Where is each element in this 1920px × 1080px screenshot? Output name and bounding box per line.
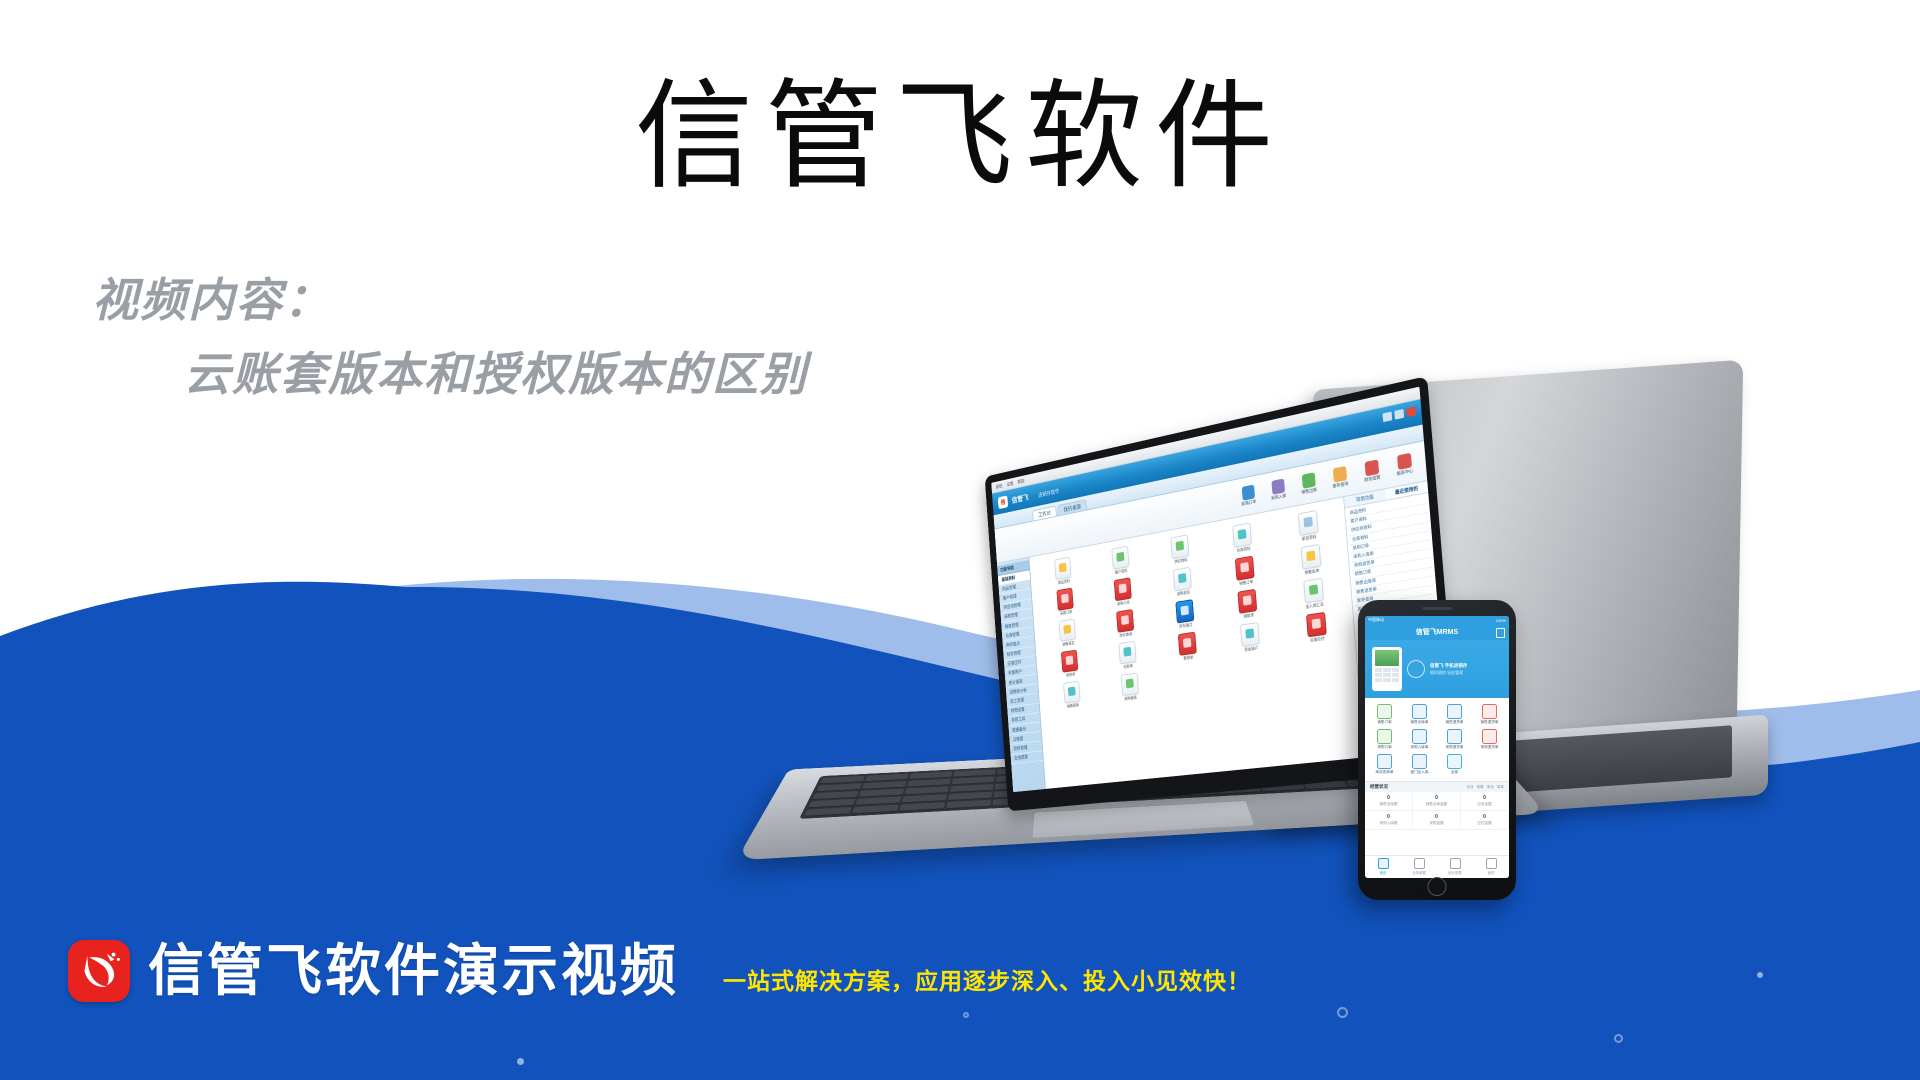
phone-bottom-nav: 首页 业务单据 统计报表 我的: [1365, 855, 1509, 878]
module-icon: [1178, 632, 1197, 656]
feature-label: 盘门出入库: [1403, 770, 1436, 775]
feature-icon: [1377, 754, 1392, 769]
feature-tile[interactable]: 销售订单: [1368, 704, 1401, 725]
feature-label: 销售订单: [1368, 720, 1401, 725]
nav-item-home[interactable]: 首页: [1365, 858, 1401, 875]
feature-icon: [1412, 754, 1427, 769]
stat-value: 0: [1461, 814, 1508, 820]
module-icon: [1059, 619, 1076, 642]
module-icon: [1120, 673, 1138, 696]
page-title: 信管飞软件: [0, 72, 1920, 204]
video-content-topic: 云账套版本和授权版本的区别: [184, 346, 808, 404]
hero-image: [1375, 650, 1399, 666]
feature-label: 采购退货单: [1473, 745, 1506, 750]
hero-subtitle: 随时随地 轻松管理: [1430, 670, 1502, 676]
feature-tile[interactable]: 销售退货单: [1438, 704, 1471, 725]
nav-label: 统计报表: [1437, 870, 1473, 875]
toolbar-label: 采购入库: [1268, 492, 1290, 502]
hero-title: 信管飞 手机进销存: [1430, 663, 1502, 669]
stat-cell: 0 销售出库额: [1365, 792, 1413, 811]
phone-screen: 中国移动 100% 信管飞MRMS 信管飞: [1365, 616, 1509, 878]
module-tile[interactable]: 采购报表: [1100, 670, 1160, 708]
home-icon: [1378, 858, 1389, 869]
stat-label: 采购金额: [1413, 821, 1460, 826]
module-icon: [1298, 510, 1319, 536]
period-chip[interactable]: 本年: [1497, 785, 1504, 790]
menu-item[interactable]: 帮助: [1017, 478, 1024, 485]
stat-value: 0: [1365, 795, 1412, 801]
feature-icon: [1447, 754, 1462, 769]
module-icon: [1113, 577, 1131, 601]
toolbar-label: 财务结算: [1360, 474, 1384, 484]
toolbar-button[interactable]: 库存查询: [1328, 465, 1352, 490]
stat-value: 0: [1461, 795, 1508, 801]
period-chip[interactable]: 本周: [1476, 785, 1483, 790]
status-text: 操作员：admin: [1051, 792, 1073, 793]
stat-label: 应收金额: [1461, 802, 1508, 807]
decor-dot: [1337, 1007, 1348, 1018]
menu-item[interactable]: 设置: [1006, 480, 1013, 487]
toolbar-label: 销售出库: [1298, 486, 1321, 496]
toolbar-icon: [1271, 479, 1285, 495]
toolbar-button[interactable]: 财务结算: [1359, 458, 1384, 484]
feature-label: 采购退货单: [1438, 745, 1471, 750]
minimize-icon[interactable]: [1383, 412, 1393, 423]
toolbar-icon: [1301, 472, 1315, 489]
module-icon: [1118, 641, 1136, 665]
smartphone: 中国移动 100% 信管飞MRMS 信管飞: [1358, 600, 1516, 900]
module-icon: [1063, 681, 1080, 704]
stat-cell: 0 应付金额: [1461, 811, 1509, 830]
feature-tile[interactable]: 销售出库单: [1403, 704, 1436, 725]
hamburger-menu-icon[interactable]: [1496, 628, 1505, 638]
nav-label: 首页: [1365, 870, 1401, 875]
feature-tile[interactable]: 采购入库单: [1403, 729, 1436, 750]
xinguanfei-bird-logo-icon: [68, 940, 130, 1002]
feature-label: 采购订单: [1368, 745, 1401, 750]
person-icon: [1486, 858, 1497, 869]
period-chip[interactable]: 本月: [1487, 785, 1494, 790]
period-filter: 今日 本周 本月 本年: [1466, 785, 1504, 790]
phone-hero-banner: 信管飞 手机进销存 随时随地 轻松管理: [1365, 640, 1509, 698]
feature-tile[interactable]: 全部: [1438, 754, 1471, 775]
hero-circle-icon: [1407, 660, 1425, 678]
feature-label: 销售退货单: [1438, 720, 1471, 725]
stat-value: 0: [1413, 814, 1460, 820]
module-icon: [1111, 546, 1129, 570]
nav-item-reports[interactable]: 统计报表: [1437, 858, 1473, 875]
stat-label: 销售出库金额: [1413, 802, 1460, 807]
phone-section-header: 经营状况 今日 本周 本月 本年: [1365, 781, 1509, 792]
module-icon: [1061, 650, 1078, 673]
feature-label: 采购入库单: [1403, 745, 1436, 750]
module-icon: [1054, 557, 1071, 580]
stat-cell: 0 采购入库额: [1365, 811, 1413, 830]
nav-item-documents[interactable]: 业务单据: [1401, 858, 1437, 875]
phone-statusbar: 中国移动 100%: [1365, 616, 1509, 624]
feature-icon: [1482, 729, 1497, 744]
phone-app-title: 信管飞MRMS: [1416, 627, 1458, 637]
decor-dot: [963, 1012, 969, 1018]
feature-icon: [1412, 704, 1427, 719]
feature-label: 销售退货单: [1473, 720, 1506, 725]
toolbar-icon: [1241, 485, 1254, 501]
close-icon[interactable]: [1406, 406, 1416, 417]
toolbar-icon: [1397, 453, 1412, 470]
toolbar-label: 报表中心: [1393, 467, 1417, 477]
stat-label: 应付金额: [1461, 821, 1508, 826]
app-logo-icon: 信: [998, 495, 1008, 509]
module-icon: [1233, 522, 1253, 547]
bottom-banner: 信管飞软件演示视频 一站式解决方案，应用逐步深入、投入小见效快！: [68, 940, 1251, 1002]
module-icon: [1170, 534, 1189, 559]
module-icon: [1175, 599, 1194, 623]
feature-icon: [1377, 704, 1392, 719]
period-chip[interactable]: 今日: [1466, 785, 1473, 790]
feature-tile[interactable]: 采购退货单: [1438, 729, 1471, 750]
status-text: 版本：V9.0: [1078, 789, 1095, 792]
toolbar-button[interactable]: 采购入库: [1266, 478, 1289, 503]
feature-icon: [1447, 729, 1462, 744]
hero-keypad: [1375, 668, 1399, 682]
module-icon: [1240, 622, 1260, 647]
module-icon: [1238, 589, 1258, 614]
module-icon: [1173, 567, 1192, 592]
nav-label: 业务单据: [1401, 870, 1437, 875]
menu-item[interactable]: 系统: [995, 483, 1002, 490]
module-icon: [1057, 588, 1074, 611]
module-icon: [1235, 556, 1255, 581]
stat-value: 0: [1365, 814, 1412, 820]
hero-text: 信管飞 手机进销存 随时随地 轻松管理: [1430, 663, 1502, 676]
module-tile[interactable]: 费用单: [1157, 628, 1219, 667]
feature-label: 销售出库单: [1403, 720, 1436, 725]
banner-title: 信管飞软件演示视频: [148, 943, 679, 999]
hero-phone-illustration: [1372, 647, 1402, 691]
feature-tile[interactable]: 盘门出入库: [1403, 754, 1436, 775]
phone-stats-grid: 0 销售出库额 0 销售出库金额 0 应收金额 0 采购入库额: [1365, 792, 1509, 830]
slide-canvas: 信管飞软件 视频内容： 云账套版本和授权版本的区别: [0, 0, 1920, 1080]
video-content-label: 视频内容：: [92, 272, 808, 330]
decor-dot: [517, 1058, 524, 1065]
maximize-icon[interactable]: [1394, 409, 1404, 420]
device-showcase: 系统 设置 帮助 信 信管飞 进销存软件: [880, 380, 1920, 1000]
feature-tile[interactable]: 采购退货单: [1473, 729, 1506, 750]
feature-label: 库存查询单: [1368, 770, 1401, 775]
toolbar-label: 库存查询: [1329, 480, 1352, 490]
app-window-title: 信管飞: [1011, 492, 1028, 505]
nav-label: 我的: [1473, 870, 1509, 875]
stat-value: 0: [1413, 795, 1460, 801]
stat-label: 销售出库额: [1365, 802, 1412, 807]
feature-tile[interactable]: 销售退货单: [1473, 704, 1506, 725]
feature-icon: [1447, 704, 1462, 719]
carrier-label: 中国移动: [1368, 617, 1384, 623]
stat-label: 采购入库额: [1365, 821, 1412, 826]
section-title: 经营状况: [1370, 784, 1388, 790]
feature-label: 全部: [1438, 770, 1471, 775]
stat-cell: 0 应收金额: [1461, 792, 1509, 811]
stat-cell: 0 采购金额: [1413, 811, 1461, 830]
window-controls[interactable]: [1383, 406, 1417, 422]
document-icon: [1414, 858, 1425, 869]
video-content-block: 视频内容： 云账套版本和授权版本的区别: [92, 272, 808, 403]
phone-speaker-icon: [1422, 607, 1452, 610]
battery-label: 100%: [1496, 618, 1506, 623]
module-icon: [1300, 544, 1321, 570]
phone-feature-grid: 销售订单 销售出库单 销售退货单 销售退货单: [1365, 698, 1509, 781]
module-icon: [1306, 612, 1327, 637]
feature-icon: [1412, 729, 1427, 744]
feature-icon: [1377, 729, 1392, 744]
phone-home-button[interactable]: [1428, 877, 1447, 896]
module-tile[interactable]: 销售报表: [1044, 678, 1101, 715]
phone-app-header: 信管飞MRMS: [1365, 624, 1509, 640]
app-window-subtitle: 进销存软件: [1038, 486, 1060, 498]
toolbar-icon: [1332, 466, 1346, 483]
toolbar-button[interactable]: 报表中心: [1392, 452, 1418, 478]
nav-item-profile[interactable]: 我的: [1473, 858, 1509, 875]
feature-icon: [1482, 704, 1497, 719]
toolbar-label: 新增订单: [1238, 498, 1260, 508]
banner-tagline: 一站式解决方案，应用逐步深入、投入小见效快！: [723, 962, 1251, 1002]
toolbar-button[interactable]: 销售出库: [1297, 471, 1321, 496]
stat-cell: 0 销售出库金额: [1413, 792, 1461, 811]
feature-tile[interactable]: 采购订单: [1368, 729, 1401, 750]
decor-dot: [1614, 1034, 1623, 1043]
chart-icon: [1450, 858, 1461, 869]
module-icon: [1116, 609, 1134, 633]
toolbar-button[interactable]: 新增订单: [1237, 484, 1260, 508]
feature-tile[interactable]: 库存查询单: [1368, 754, 1401, 775]
module-icon: [1303, 578, 1324, 604]
toolbar-icon: [1364, 459, 1379, 476]
